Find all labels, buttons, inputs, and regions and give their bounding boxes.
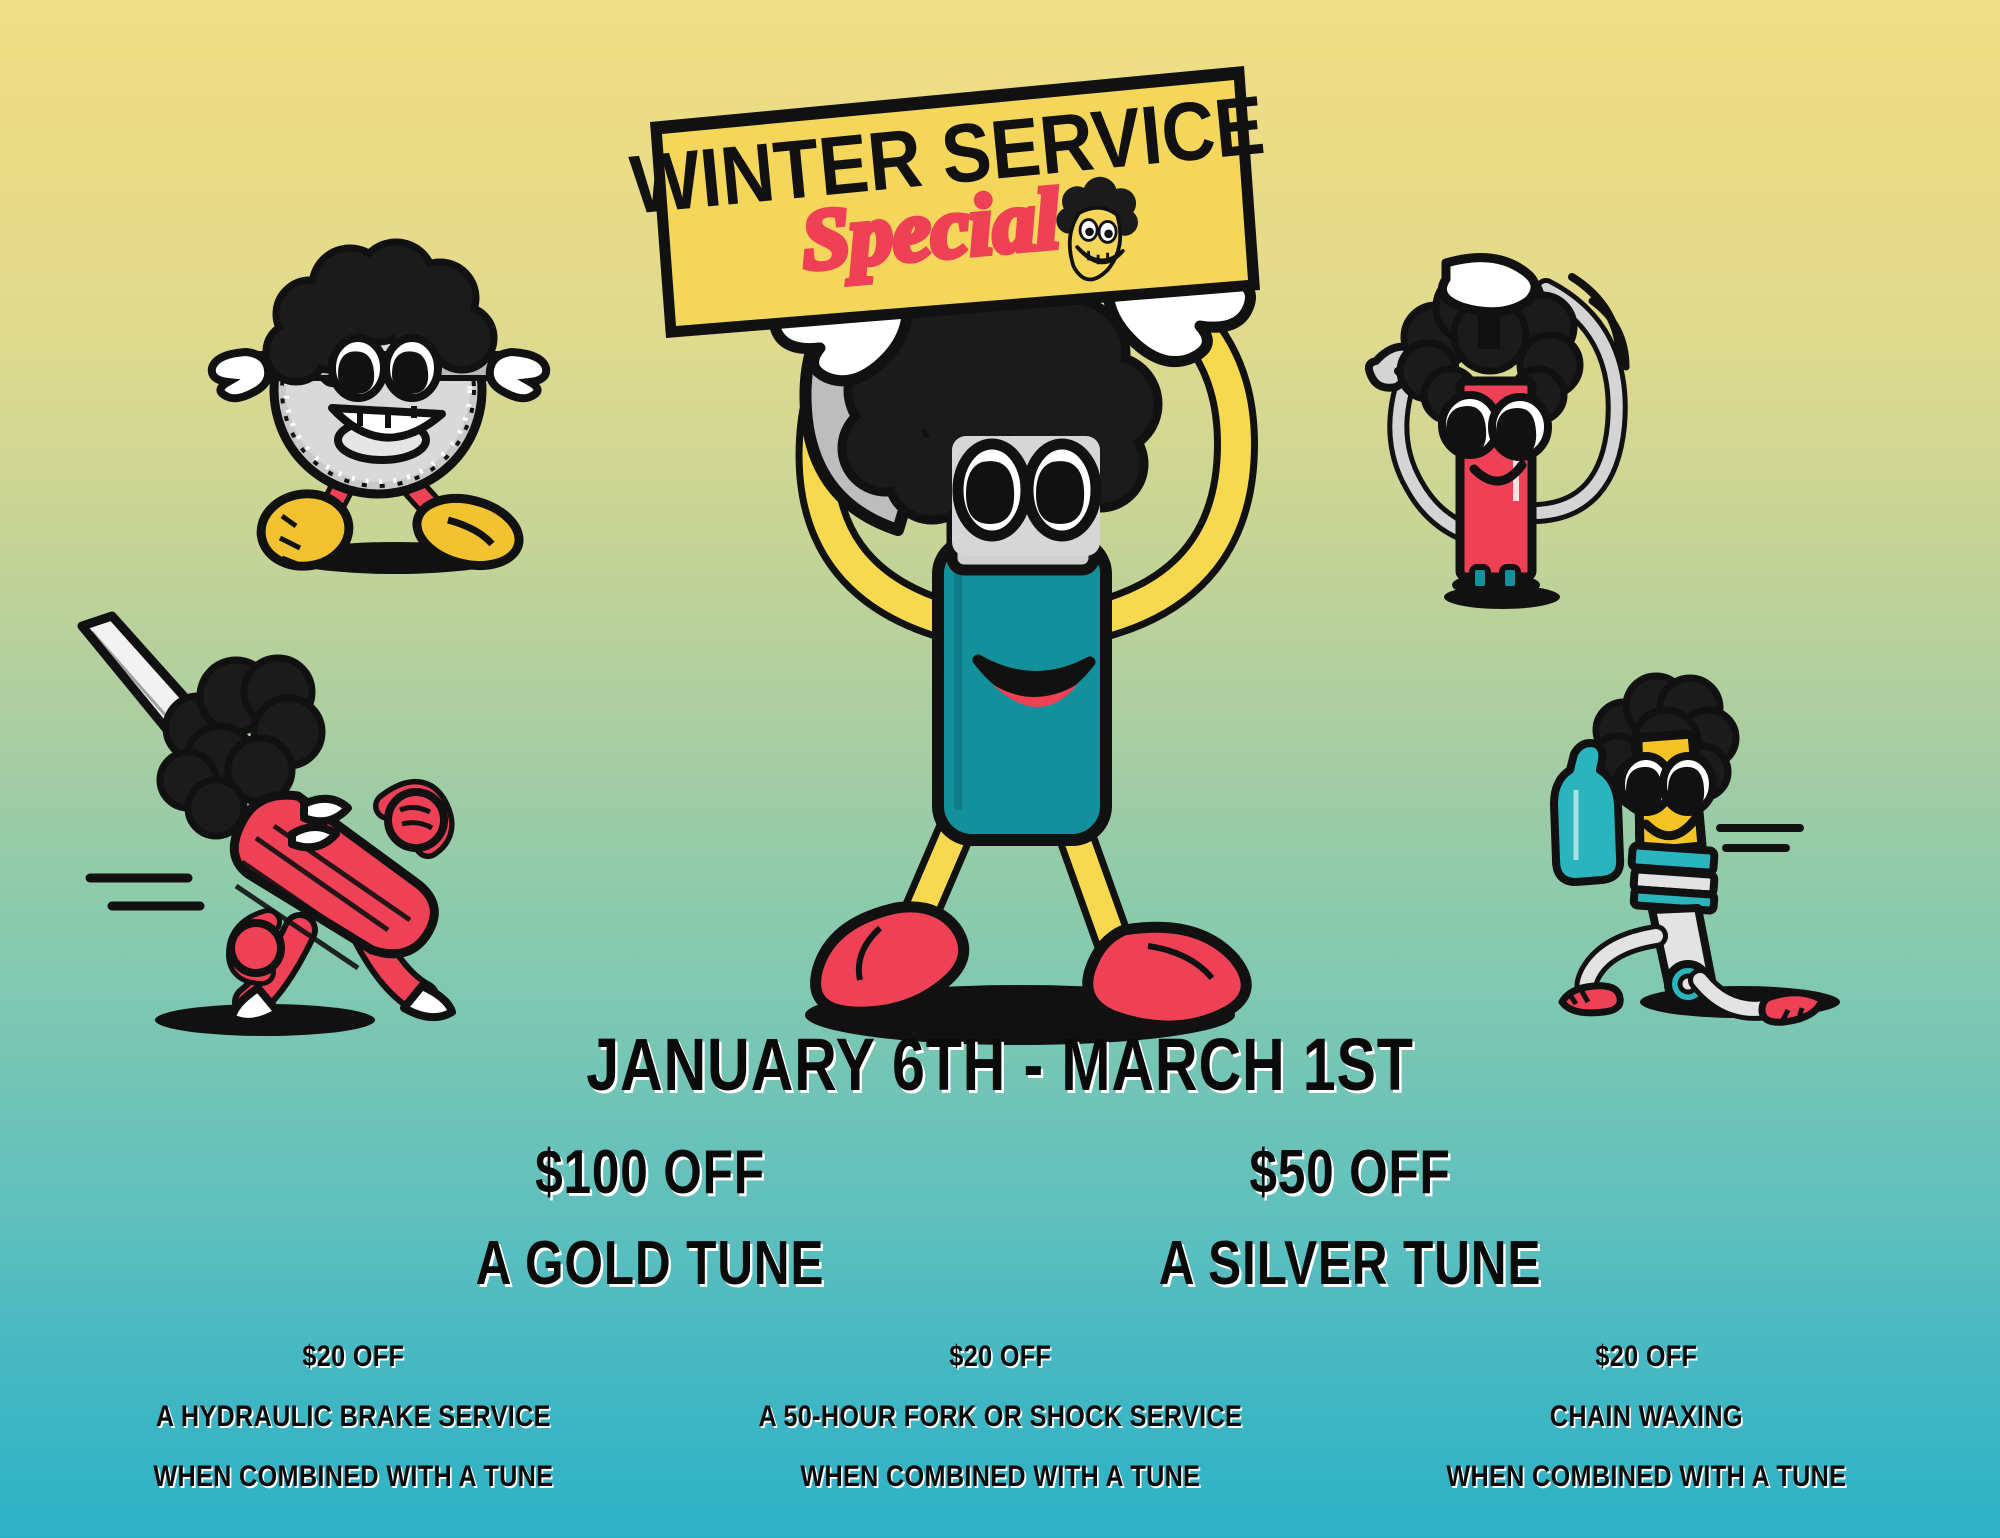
tier-gold-amount: $100 OFF xyxy=(370,1140,930,1205)
fine-print-chain-amount: $20 OFF xyxy=(1375,1342,1918,1372)
fine-print-fork-service: A 50-HOUR FORK OR SHOCK SERVICE xyxy=(728,1402,1271,1432)
tier-row: $100 OFF A GOLD TUNE $50 OFF A SILVER TU… xyxy=(0,1140,2000,1296)
date-range-heading: JANUARY 6TH - MARCH 1ST xyxy=(200,1028,1800,1102)
fine-print-chain-service: CHAIN WAXING xyxy=(1375,1402,1918,1432)
fine-print-fork-condition: WHEN COMBINED WITH A TUNE xyxy=(728,1462,1271,1492)
fine-print-chain-condition: WHEN COMBINED WITH A TUNE xyxy=(1375,1462,1918,1492)
fine-print-row: $20 OFF A HYDRAULIC BRAKE SERVICE WHEN C… xyxy=(0,1342,2000,1492)
tier-silver-amount: $50 OFF xyxy=(1070,1140,1630,1205)
winter-service-sign: WINTER SERVICE Special xyxy=(632,62,1272,392)
fine-print-brake: $20 OFF A HYDRAULIC BRAKE SERVICE WHEN C… xyxy=(30,1342,677,1492)
tier-gold-name: A GOLD TUNE xyxy=(370,1231,930,1296)
tier-silver: $50 OFF A SILVER TUNE xyxy=(1000,1140,1700,1296)
fine-print-brake-amount: $20 OFF xyxy=(82,1342,625,1372)
fine-print-chain: $20 OFF CHAIN WAXING WHEN COMBINED WITH … xyxy=(1323,1342,1970,1492)
fine-print-brake-service: A HYDRAULIC BRAKE SERVICE xyxy=(82,1402,625,1432)
shock-mascot xyxy=(1560,680,1900,1020)
tier-silver-name: A SILVER TUNE xyxy=(1070,1231,1630,1296)
pump-mascot xyxy=(1350,255,1670,615)
chainring-mascot xyxy=(200,240,560,580)
fine-print-fork: $20 OFF A 50-HOUR FORK OR SHOCK SERVICE … xyxy=(677,1342,1324,1492)
screwdriver-mascot xyxy=(70,610,470,1040)
fine-print-brake-condition: WHEN COMBINED WITH A TUNE xyxy=(82,1462,625,1492)
poster-canvas: WINTER SERVICE Special xyxy=(0,0,2000,1538)
fine-print-fork-amount: $20 OFF xyxy=(728,1342,1271,1372)
tier-gold: $100 OFF A GOLD TUNE xyxy=(300,1140,1000,1296)
